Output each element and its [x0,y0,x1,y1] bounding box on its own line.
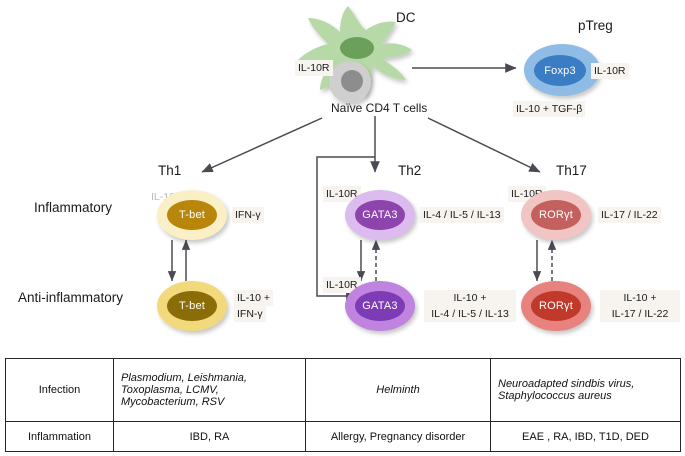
table-row: Inflammation IBD, RA Allergy, Pregnancy … [6,422,681,452]
table-cell-infection-th2: Helminth [306,359,491,422]
table-cell-infection-th17: Neuroadapted sindbis virus, Staphylococc… [491,359,681,422]
arrow-naive-to-th17 [428,118,540,172]
ptreg-il10r-tag: IL-10R [591,63,629,79]
th1-title: Th1 [158,163,181,178]
th2-top-factor: GATA3 [355,200,405,230]
table-cell-inflammation-th1: IBD, RA [114,422,306,452]
dc-label: DC [396,10,416,25]
th2-bottom-cytokines-line2: IL-4 / IL-5 / IL-13 [424,306,516,322]
th1-bottom-cytokines-line1: IL-10 + [234,290,273,306]
th2-bottom-cytokines-line1: IL-10 + [424,290,516,306]
th17-title: Th17 [556,163,587,178]
naive-t-cell-shape [329,61,371,103]
ptreg-cytokines: IL-10 + TGF-β [513,101,585,117]
th1-top-factor: T-bet [167,200,217,230]
ptreg-factor: Foxp3 [534,55,586,86]
table-cell-infection-th1: Plasmodium, Leishmania, Toxoplasma, LCMV… [114,359,306,422]
dendritic-cell-shape [298,6,412,96]
th17-bottom-cytokines-line2: IL-17 / IL-22 [600,306,680,322]
th17-bottom-cytokines-line1: IL-10 + [600,290,680,306]
diagram-canvas: DC IL-10R Naïve CD4 T cells pTreg Foxp3 … [0,0,685,456]
th17-bottom-factor: RORγt [531,291,581,321]
table-rowhead-infection: Infection [6,359,114,422]
th2-title: Th2 [398,163,421,178]
table-cell-inflammation-th2: Allergy, Pregnancy disorder [306,422,491,452]
naive-cd4-label: Naïve CD4 T cells [331,101,427,115]
th1-bottom-cytokines-line2: IFN-γ [234,306,266,322]
th1-top-cytokines: IFN-γ [232,207,264,223]
ptreg-title: pTreg [578,18,613,33]
th2-top-cytokines: IL-4 / IL-5 / IL-13 [420,207,504,223]
row-label-anti-inflammatory: Anti-inflammatory [18,290,123,305]
table-cell-inflammation-th17: EAE , RA, IBD, T1D, DED [491,422,681,452]
th17-top-cytokines: IL-17 / IL-22 [598,207,661,223]
th17-top-factor: RORγt [531,200,581,230]
dc-il10r-tag: IL-10R [295,60,333,76]
table-row: Infection Plasmodium, Leishmania, Toxopl… [6,359,681,422]
th2-bottom-factor: GATA3 [355,291,405,321]
arrow-naive-to-th1 [202,118,322,172]
row-label-inflammatory: Inflammatory [34,200,112,215]
th1-bottom-factor: T-bet [167,291,217,321]
disease-association-table: Infection Plasmodium, Leishmania, Toxopl… [5,358,681,452]
table-rowhead-inflammation: Inflammation [6,422,114,452]
